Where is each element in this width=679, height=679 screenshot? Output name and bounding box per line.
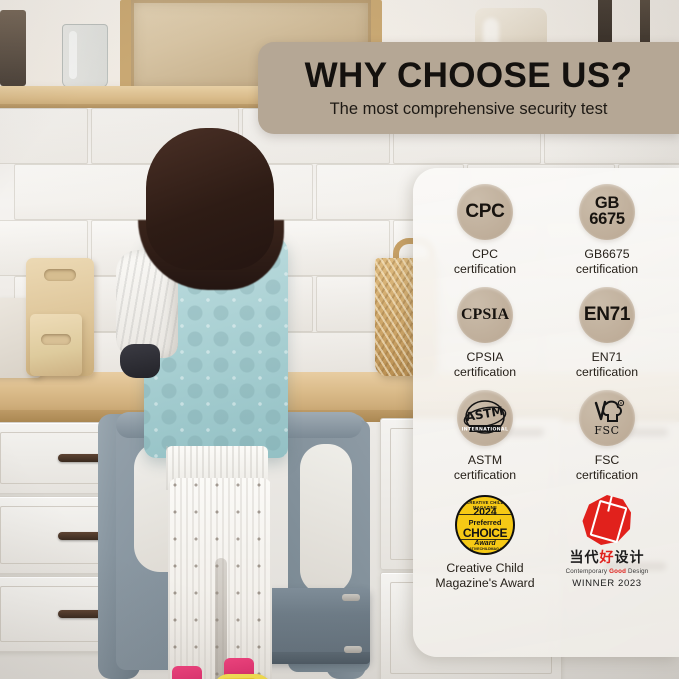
en-part2: Design xyxy=(626,568,648,575)
cert-label-astm: ASTM certification xyxy=(454,453,516,483)
product-infographic: WHY CHOOSE US? The most comprehensive se… xyxy=(0,0,679,679)
cn-part2: 设计 xyxy=(615,550,645,566)
cert-label-gb6675: GB6675 certification xyxy=(576,247,638,277)
cert-item-astm: ASTM INTERNATIONAL ASTM certification xyxy=(427,390,543,483)
gb-mark-line2: 6675 xyxy=(589,210,625,228)
cert-label-line2: certification xyxy=(454,468,516,482)
cert-label-fsc: FSC certification xyxy=(576,453,638,483)
cpsia-badge-icon: CPSIA xyxy=(457,287,513,343)
cert-label-line1: FSC xyxy=(595,453,620,467)
child-sock-left xyxy=(172,666,202,679)
page-subtitle: The most comprehensive security test xyxy=(330,101,608,118)
award-label-line2: Magazine's Award xyxy=(435,576,534,590)
cert-label-line1: CPC xyxy=(472,247,498,261)
cert-label-line2: certification xyxy=(576,468,638,482)
glass-jar xyxy=(62,24,108,88)
cert-label-line2: certification xyxy=(576,365,638,379)
good-design-logo-icon xyxy=(582,495,632,545)
cert-label-line2: certification xyxy=(454,365,516,379)
cpc-mark-text: CPC xyxy=(465,203,504,221)
en-part-red: Good xyxy=(609,568,626,575)
cert-label-en71: EN71 certification xyxy=(576,350,638,380)
cert-label-line1: EN71 xyxy=(592,350,623,364)
certification-panel: CPC CPC certification GB 6675 GB6675 cer… xyxy=(413,168,679,657)
shelf-ornament-dark xyxy=(0,10,26,86)
cn-part-red: 好 xyxy=(600,550,615,566)
award-label-creative-child: Creative Child Magazine's Award xyxy=(435,561,534,591)
cert-item-en71: EN71 EN71 certification xyxy=(549,287,665,380)
cert-label-line2: certification xyxy=(454,262,516,276)
en-part1: Contemporary xyxy=(566,568,610,575)
fsc-badge-icon: R FSC xyxy=(579,390,635,446)
tower-adjust-slot xyxy=(342,594,360,601)
award-label-line1: Creative Child xyxy=(446,561,523,575)
cert-item-gb6675: GB 6675 GB6675 certification xyxy=(549,184,665,277)
child-hair xyxy=(146,128,274,270)
child-standing xyxy=(110,128,310,628)
en71-badge-icon: EN71 xyxy=(579,287,635,343)
cert-item-cpc: CPC CPC certification xyxy=(427,184,543,277)
svg-text:INTERNATIONAL: INTERNATIONAL xyxy=(462,427,508,433)
cn-part1: 当代 xyxy=(570,550,600,566)
creative-child-seal-icon: CREATIVE CHILD MAGAZINE 2024 Preferred C… xyxy=(455,495,515,555)
seal-choice: CHOICE xyxy=(463,527,507,539)
header-banner: WHY CHOOSE US? The most comprehensive se… xyxy=(258,42,679,134)
cert-label-line1: GB6675 xyxy=(584,247,629,261)
seal-website: CREATIVECHILDMAG.COM xyxy=(457,547,513,551)
gb6675-mark-text: GB 6675 xyxy=(589,196,625,227)
cert-item-fsc: R FSC FSC certification xyxy=(549,390,665,483)
svg-text:FSC: FSC xyxy=(594,424,619,437)
seal-band-top xyxy=(457,514,513,515)
gb6675-badge-icon: GB 6675 xyxy=(579,184,635,240)
cert-label-cpc: CPC certification xyxy=(454,247,516,277)
seal-arc-text: CREATIVE CHILD MAGAZINE xyxy=(457,500,513,510)
cert-label-line2: certification xyxy=(576,262,638,276)
tower-adjust-slot xyxy=(344,646,362,653)
seal-award: Award xyxy=(474,540,495,547)
cpc-badge-icon: CPC xyxy=(457,184,513,240)
cpsia-mark-text: CPSIA xyxy=(461,307,509,322)
award-creative-child: CREATIVE CHILD MAGAZINE 2024 Preferred C… xyxy=(427,495,543,591)
seal-band-bottom xyxy=(457,539,513,540)
en71-mark-text: EN71 xyxy=(584,306,630,324)
cert-item-cpsia: CPSIA CPSIA certification xyxy=(427,287,543,380)
certification-grid: CPC CPC certification GB 6675 GB6675 cer… xyxy=(427,184,665,483)
cert-label-line1: ASTM xyxy=(468,453,502,467)
astm-badge-icon: ASTM INTERNATIONAL xyxy=(457,390,513,446)
cutting-board-small xyxy=(30,314,82,376)
award-contemporary-good-design: 当代好设计 Contemporary Good Design WINNER 20… xyxy=(549,495,665,591)
cert-label-line1: CPSIA xyxy=(467,350,504,364)
child-hand xyxy=(120,344,160,378)
good-design-winner-year: WINNER 2023 xyxy=(572,578,642,589)
page-title: WHY CHOOSE US? xyxy=(305,58,633,93)
cert-label-cpsia: CPSIA certification xyxy=(454,350,516,380)
good-design-chinese-title: 当代好设计 xyxy=(570,547,645,567)
seal-preferred: Preferred xyxy=(469,519,502,526)
good-design-english-title: Contemporary Good Design xyxy=(566,568,649,575)
awards-grid: CREATIVE CHILD MAGAZINE 2024 Preferred C… xyxy=(427,495,665,591)
